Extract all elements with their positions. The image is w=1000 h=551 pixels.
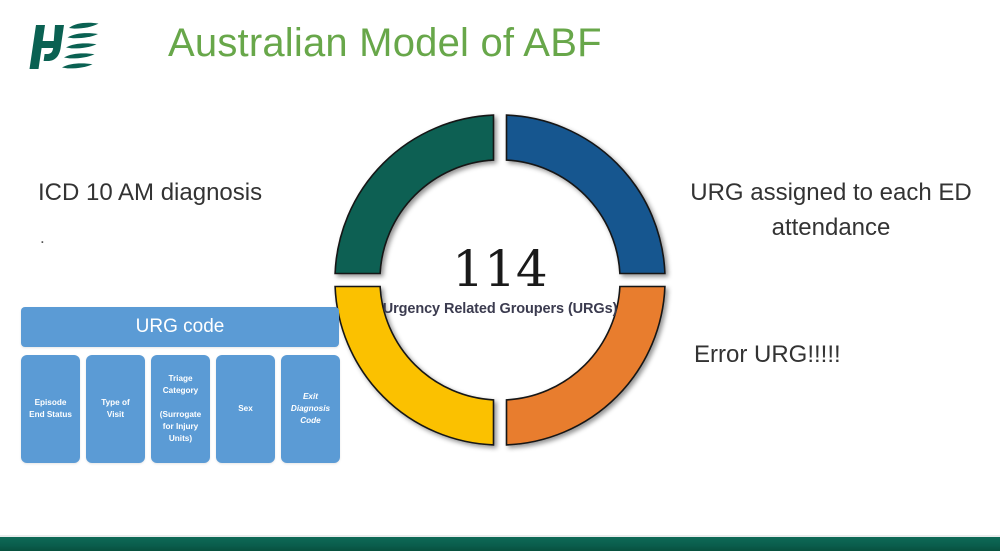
urg-component-label: Exit Diagnosis Code [291, 391, 330, 427]
slide-canvas: Australian Model of ABF ICD 10 AM diagno… [0, 0, 1000, 551]
callout-icd-diagnosis: ICD 10 AM diagnosis [38, 176, 338, 211]
urg-code-header: URG code [21, 307, 339, 347]
urg-code-diagram: URG code Episode End Status Type of Visi… [21, 307, 340, 463]
urg-component-label: Type of Visit [101, 397, 130, 421]
callout-urg-assigned: URG assigned to each ED attendance [676, 176, 986, 246]
urg-component-label: Sex [238, 403, 253, 415]
callout-error-urg: Error URG!!!!! [694, 338, 964, 373]
donut-segment-yellow [335, 287, 493, 445]
urg-component-label: Triage Category (Surrogate for Injury Un… [160, 373, 201, 444]
donut-segment-orange [507, 287, 665, 445]
urg-component-sex: Sex [216, 355, 275, 463]
urg-component-label: Episode End Status [29, 397, 72, 421]
urg-component-triage-category: Triage Category (Surrogate for Injury Un… [151, 355, 210, 463]
page-title: Australian Model of ABF [168, 21, 602, 66]
urg-component-episode-end-status: Episode End Status [21, 355, 80, 463]
callout-left-bullet-dot: . [40, 228, 45, 248]
hse-logo-icon [22, 14, 114, 80]
donut-segment-green [335, 115, 493, 273]
urg-component-type-of-visit: Type of Visit [86, 355, 145, 463]
donut-segment-blue [507, 115, 665, 273]
urg-component-row: Episode End Status Type of Visit Triage … [21, 355, 340, 463]
footer-bar [0, 537, 1000, 551]
urg-component-exit-diagnosis-code: Exit Diagnosis Code [281, 355, 340, 463]
urg-donut-chart [327, 107, 673, 453]
